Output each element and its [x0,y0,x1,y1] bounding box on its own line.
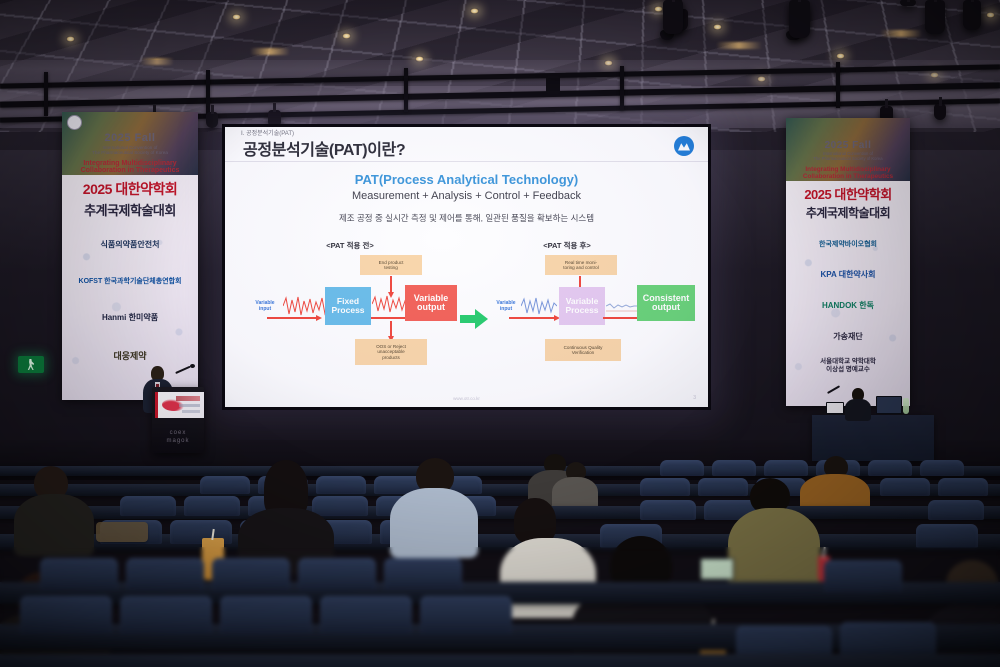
slide-description: 제조 공정 중 실시간 측정 및 제어를 통해, 일관된 품질을 확보하는 시스… [225,212,708,224]
water-bottle-icon [903,398,909,414]
podium-sign-line-2 [179,404,200,407]
banner-sponsor-0: 한국제약바이오협회 [819,239,877,249]
attendee-dark-jacket [14,466,94,558]
jacket-on-seat [96,522,148,542]
note-real-time-monitoring: Real time moni- toring and control [545,255,617,275]
seat [928,500,984,520]
banner-sponsor-2: HANDOK 한독 [822,300,874,311]
banner-credit-line-2: 이상섭 명예교수 [826,366,870,374]
tech-laptop-screen [877,397,901,413]
truss-vertical [44,72,48,116]
slide-title: 공정분석기술(PAT)이란? [243,136,405,160]
seat [298,558,376,590]
box-consistent-output: Consistent output [637,285,695,321]
truss-vertical [620,66,624,110]
presentation-slide: Ⅰ. 공정분석기술(PAT) 공정분석기술(PAT)이란? PAT(Proces… [225,127,708,407]
warm-ceiling-panel [250,48,290,55]
seat [126,558,204,590]
projection-screen: Ⅰ. 공정분석기술(PAT) 공정분석기술(PAT)이란? PAT(Proces… [222,124,711,410]
box-variable-process: Variable Process [559,287,605,325]
conference-hall-photo: 2025 Fall International Convention of Th… [0,0,1000,667]
stage-light-icon [663,0,683,34]
seat [420,596,512,634]
seat [40,558,118,590]
banner-year: 2025 Fall [825,140,872,151]
seat [184,496,240,516]
downlight-icon [836,53,845,59]
arrow-down-testing [390,276,392,293]
slide-heading-main: PAT(Process Analytical Technology) [225,172,708,187]
banner-korean-title-1: 2025 대한약학회 [804,184,891,203]
downlight-icon [342,33,351,39]
seat [880,478,930,496]
banner-left: 2025 Fall International Convention of Th… [62,112,198,400]
speaker-box [546,76,560,94]
label-after-pat: <PAT 적용 후> [497,240,637,251]
seat [120,596,212,634]
box-fixed-process: Fixed Process [325,287,371,325]
attendee-body [390,488,478,558]
banner-sponsor-3: 대웅제약 [113,349,146,362]
downlight-icon [654,6,663,12]
podium-signage [155,392,204,418]
seat [384,558,462,590]
label-before-pat: <PAT 적용 전> [285,240,415,251]
seat [640,500,696,520]
attendee-olive-shirt [728,478,820,590]
stage-light-icon [963,0,981,30]
note-oos-reject: OOS or Reject unacceptable products [355,339,427,365]
waveform-variable-input [283,295,329,317]
slide-title-rule [225,161,708,162]
seat [938,478,988,496]
seat [916,524,978,548]
tech-monitor-screen [827,403,843,413]
audience-area [0,440,1000,667]
slide-heading-sub: Measurement + Analysis + Control + Feedb… [225,190,708,202]
microphone-head-icon [190,364,195,368]
desk-row-0 [0,654,1000,667]
label-variable-input-after: Variable input [487,301,525,313]
downlight-icon [986,12,995,18]
tech-monitor [826,402,844,414]
seat [320,596,412,634]
podium-sign-line-3 [182,410,200,413]
downlight-icon [713,24,722,30]
downlight-icon [470,8,479,14]
mountain-circle-logo-icon [674,136,694,156]
banner-korean-title-2: 추계국제학술대회 [806,204,890,221]
note-end-product-testing: End product testing [360,255,422,275]
banner-sponsor-3: 가송재단 [833,331,862,342]
truss-vertical [404,68,408,112]
seat [868,460,912,476]
green-right-arrow-icon [460,309,488,334]
seat [712,460,756,476]
arrow-input-to-process [267,317,317,319]
stage-light-icon [925,0,945,34]
slide-footer: www.otr.co.kr [225,396,708,401]
arrow-input-to-process-after [509,317,555,319]
note-continuous-quality-verification: Continuous Quality Verification [545,339,621,361]
running-man-glyph [27,359,35,370]
seat [120,496,176,516]
banner-theme: Integrating Multidisciplinary Collaborat… [66,160,194,176]
exit-sign-icon [18,356,44,373]
truss-vertical [206,70,210,114]
diagram-before: End product testing Variable input Fixed… [245,255,460,385]
warm-ceiling-panel [880,30,922,37]
technician-body [845,399,871,421]
banner-subtitle: International Convention of The Pharmace… [790,152,906,162]
warm-ceiling-panel [716,42,762,49]
box-variable-output: Variable output [405,285,457,321]
banner-korean-title-2: 추계국제학술대회 [84,200,176,219]
stage-light-icon [934,104,946,120]
banner-korean-title-1: 2025 대한약학회 [83,179,177,199]
banner-sponsor-1: KPA 대한약사회 [820,269,875,280]
attendee-body [728,508,820,590]
label-variable-input: Variable input [245,301,285,313]
seat [824,560,902,592]
attendee-blue-shirt [390,458,478,562]
stage-light-icon [789,0,810,38]
seat [212,558,290,590]
stage-light-icon [900,0,916,6]
downlight-icon [232,14,241,20]
banner-sponsor-1: KOFST 한국과학기술단체총연합회 [79,276,182,286]
waveform-variable-input-after [521,295,557,317]
attendee-long-hair [238,460,334,570]
downlight-icon [66,36,75,42]
banner-theme: Integrating Multidisciplinary Collaborat… [789,166,907,180]
truss-vertical [836,62,840,108]
technician [845,388,871,418]
seat [220,596,312,634]
diagram-after: Real time moni- toring and control Varia… [487,255,699,385]
banner-sponsor-2: Hanmi 한미약품 [102,312,158,323]
slide-page-number: 3 [693,395,696,401]
arrow-down-oos [390,321,392,337]
banner-right: 2025 Fall International Convention of Th… [786,118,910,406]
seat [20,596,112,634]
banner-subtitle: International Convention of The Pharmace… [67,145,193,156]
seat [640,478,690,496]
seat [920,460,964,476]
podium-sign-line-1 [176,396,200,401]
attendee-body [14,494,94,556]
banner-sponsor-0: 식품의약품안전처 [101,239,160,250]
stage-light-icon [206,112,218,128]
seat [660,460,704,476]
tech-laptop [876,396,902,414]
banner-year: 2025 Fall [105,132,156,144]
